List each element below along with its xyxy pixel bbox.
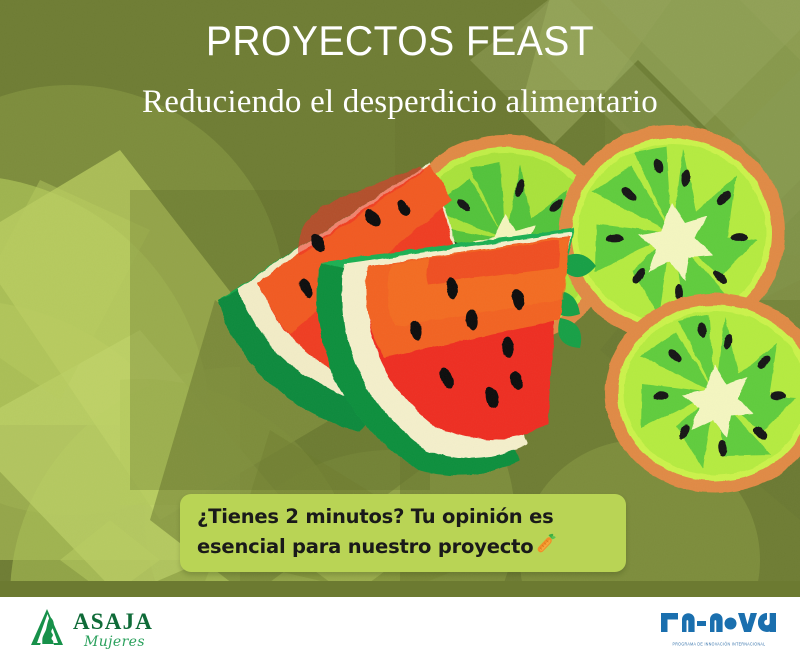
page-title: PROYECTOS FEAST bbox=[28, 17, 772, 65]
poster-canvas: PROYECTOS FEAST Reduciendo el desperdici… bbox=[0, 0, 800, 659]
cta-line-1-text: ¿Tienes 2 minutos? Tu opinión es bbox=[197, 503, 554, 531]
page-subtitle: Reduciendo el desperdicio alimentario bbox=[0, 84, 800, 121]
asaja-mark-icon bbox=[26, 605, 70, 654]
innova-tagline: PROGRAMA DE INNOVACIÓN INTERNACIONAL bbox=[672, 642, 765, 647]
logo-strip: ASAJA Mujeres bbox=[0, 597, 800, 659]
cta-line-2-text: esencial para nuestro proyecto bbox=[197, 533, 533, 561]
bottom-bar bbox=[0, 581, 800, 597]
cta-line-1: ¿Tienes 2 minutos? Tu opinión es bbox=[197, 503, 610, 531]
call-to-action-banner[interactable]: ¿Tienes 2 minutos? Tu opinión es esencia… bbox=[180, 494, 626, 572]
innova-mark-icon bbox=[660, 609, 778, 640]
cta-line-2: esencial para nuestro proyecto bbox=[197, 531, 610, 563]
asaja-logo: ASAJA Mujeres bbox=[26, 605, 153, 654]
innova-logo: PROGRAMA DE INNOVACIÓN INTERNACIONAL bbox=[660, 609, 778, 646]
artwork-area: PROYECTOS FEAST Reduciendo el desperdici… bbox=[0, 0, 800, 597]
asaja-wordmark: ASAJA bbox=[73, 610, 153, 633]
asaja-sub-wordmark: Mujeres bbox=[84, 635, 153, 649]
carrot-icon bbox=[534, 531, 558, 563]
